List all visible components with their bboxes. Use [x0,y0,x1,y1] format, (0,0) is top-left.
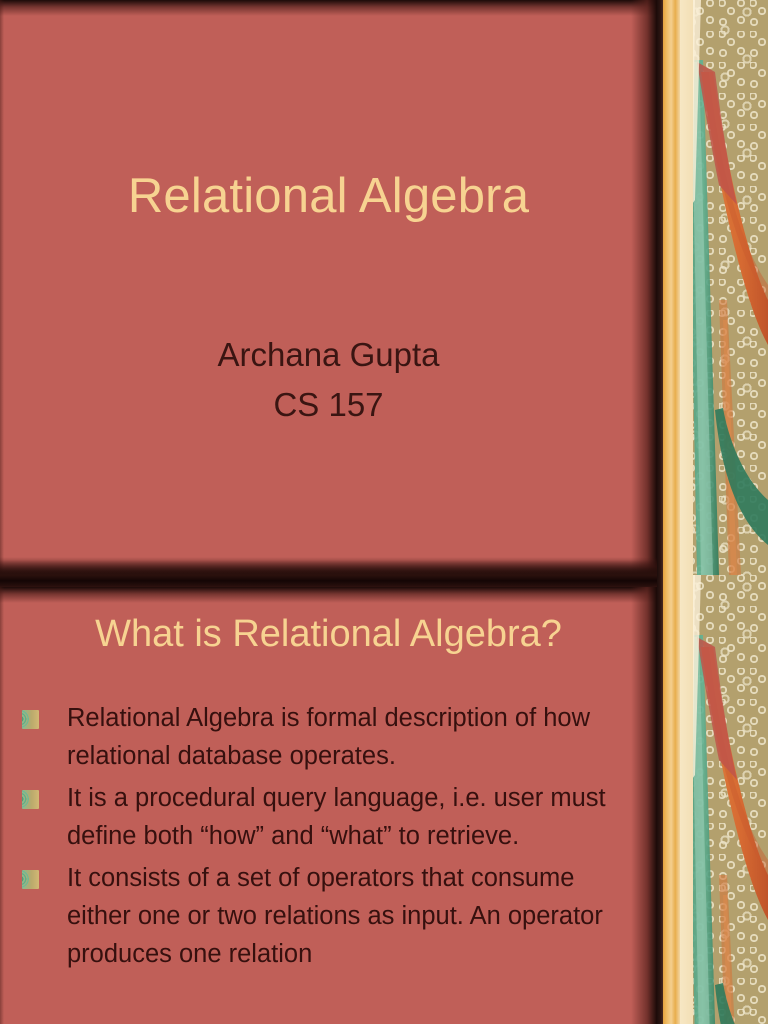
list-item: It consists of a set of operators that c… [22,859,631,973]
slide2-title: What is Relational Algebra? [0,613,657,656]
bullet-ornament-icon [22,870,39,889]
slide1-course: CS 157 [0,380,657,430]
slide1-subtitle: Archana Gupta CS 157 [0,330,657,430]
slide-right-shadow [631,0,657,575]
list-item-text: Relational Algebra is formal description… [67,699,631,775]
slide-top-shadow [0,0,657,16]
list-item-text: It is a procedural query language, i.e. … [67,779,631,855]
slide1-author: Archana Gupta [0,330,657,380]
slide-bottom-shadow [0,557,657,575]
bullet-ornament-icon [22,710,39,729]
decorative-border [657,0,768,1024]
slide-left-shadow [0,0,4,575]
list-item: It is a procedural query language, i.e. … [22,779,631,855]
slide-what-is-relational-algebra: What is Relational Algebra? Relational A… [0,587,657,1024]
slide-title: Relational Algebra Archana Gupta CS 157 [0,0,657,575]
bullet-ornament-icon [22,790,39,809]
list-item: Relational Algebra is formal description… [22,699,631,775]
slide-top-shadow [0,587,657,603]
list-item-text: It consists of a set of operators that c… [67,859,631,973]
border-gold-stripe [663,0,680,1024]
border-cream-stripe [680,0,693,1024]
slide2-bullet-list: Relational Algebra is formal description… [22,699,631,977]
slide1-title: Relational Algebra [0,168,657,224]
slide-deck: Relational Algebra Archana Gupta CS 157 … [0,0,768,1024]
